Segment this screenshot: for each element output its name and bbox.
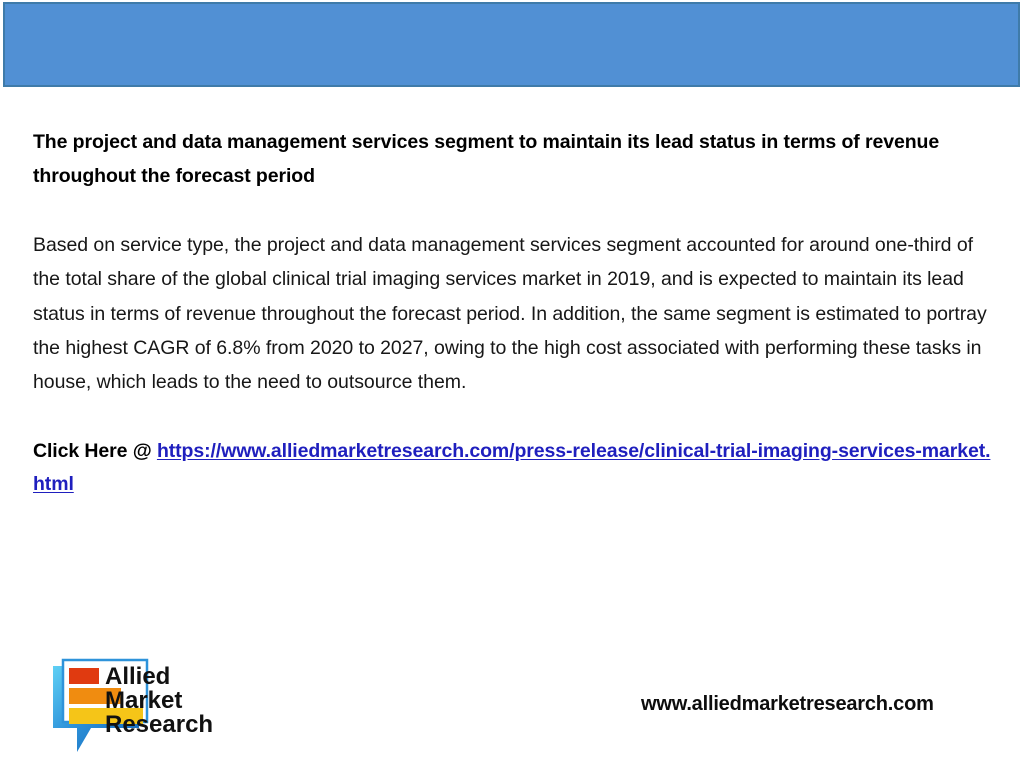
footer-website: www.alliedmarketresearch.com — [641, 693, 934, 716]
allied-market-research-logo: Allied Market Research — [47, 658, 297, 762]
press-release-link[interactable]: https://www.alliedmarketresearch.com/pre… — [33, 440, 990, 496]
body-paragraph: Based on service type, the project and d… — [33, 193, 995, 400]
cta-label: Click Here @ — [33, 440, 157, 462]
page-title: The project and data management services… — [33, 126, 995, 193]
cta-block: Click Here @ https://www.alliedmarketres… — [33, 400, 995, 502]
logo-bar-red — [69, 668, 99, 684]
logo-text-market: Market — [105, 687, 182, 714]
logo-text-research: Research — [105, 711, 213, 738]
slide-header-title — [5, 4, 1018, 56]
logo-text-allied: Allied — [105, 663, 170, 690]
slide-header-banner — [3, 2, 1020, 87]
slide-content: The project and data management services… — [33, 126, 995, 502]
speech-bubble-icon: Allied Market Research — [47, 658, 297, 762]
